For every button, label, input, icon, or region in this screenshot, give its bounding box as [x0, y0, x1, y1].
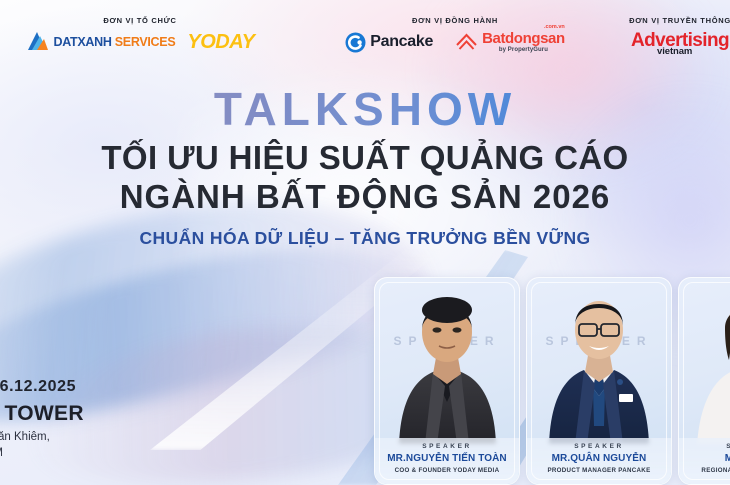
datxanh-word: DATXANH	[54, 35, 115, 49]
speaker-card[interactable]: SPEAKER	[526, 277, 672, 485]
batdongsan-house-icon	[455, 32, 478, 52]
talkshow-poster: ĐƠN VỊ TỔ CHỨC DATXANH SERVICES YODAY ĐƠ	[0, 0, 730, 485]
pancake-logo[interactable]: Pancake	[345, 32, 433, 53]
speaker-role: SPEAKER	[679, 443, 730, 450]
batdongsan-subtitle: by PropertyGuru	[482, 47, 565, 53]
speaker-name: MR.NGUYỄN TIẾN TOÀN	[375, 453, 519, 464]
speaker-card[interactable]: SPE SPEAKER MS.ĐỖ THỊ REGIONAL B2B BATDO…	[678, 277, 730, 485]
page-title: TỐI ƯU HIỆU SUẤT QUẢNG CÁO NGÀNH BẤT ĐỘN…	[0, 139, 730, 216]
headline-line-2: NGÀNH BẤT ĐỘNG SẢN 2026	[0, 178, 730, 217]
event-date: 26.12.2025	[0, 378, 76, 395]
batdongsan-name: Batdongsan	[482, 31, 565, 46]
speaker-name: MR.QUÂN NGUYỄN	[527, 453, 671, 464]
event-info: 00|26.12.2025 ANH TOWER W Ung Văn Khiêm,…	[0, 378, 202, 462]
speaker-caption: SPEAKER MS.ĐỖ THỊ REGIONAL B2B BATDONGSA…	[679, 438, 730, 484]
speaker-title: PRODUCT MANAGER PANCAKE	[527, 467, 671, 475]
advertising-vietnam-logo[interactable]: Advertising vietnam	[631, 31, 729, 60]
partner-group-organizer: ĐƠN VỊ TỔ CHỨC DATXANH SERVICES YODAY	[30, 16, 250, 52]
speaker-card[interactable]: SPEAKER	[374, 277, 520, 485]
speaker-caption: SPEAKER MR.QUÂN NGUYỄN PRODUCT MANAGER P…	[527, 438, 671, 484]
batdongsan-wordmark: .com.vn Batdongsan by PropertyGuru	[482, 31, 565, 53]
speaker-photo	[527, 277, 671, 444]
pancake-mark-icon	[345, 32, 366, 53]
speaker-title: REGIONAL B2B BATDONGSAN	[679, 467, 730, 475]
datxanh-services-logo[interactable]: DATXANH SERVICES	[26, 31, 176, 52]
datxanh-mark-icon	[26, 31, 50, 52]
headline-line-1: TỐI ƯU HIỆU SUẤT QUẢNG CÁO	[0, 139, 730, 178]
media-label: ĐƠN VỊ TRUYỀN THÔNG	[600, 16, 730, 25]
speaker-role: SPEAKER	[375, 443, 519, 450]
services-word: SERVICES	[115, 35, 176, 49]
batdongsan-logo[interactable]: .com.vn Batdongsan by PropertyGuru	[455, 31, 565, 53]
address-line-2: Tây, HCM	[0, 445, 202, 461]
datxanh-services-wordmark: DATXANH SERVICES	[54, 35, 176, 49]
event-venue: ANH TOWER	[0, 402, 202, 426]
subtitle: CHUẨN HÓA DỮ LIỆU – TĂNG TRƯỞNG BỀN VỮNG	[0, 228, 730, 249]
speaker-caption: SPEAKER MR.NGUYỄN TIẾN TOÀN COO & FOUNDE…	[375, 438, 519, 484]
vietnam-word: vietnam	[657, 47, 730, 57]
partner-group-media: ĐƠN VỊ TRUYỀN THÔNG Advertising vietnam	[600, 16, 730, 60]
partner-group-companion: ĐƠN VỊ ĐỒNG HÀNH Pancake	[310, 16, 600, 53]
speaker-name: MS.ĐỖ THỊ	[679, 453, 730, 464]
speaker-photo	[679, 277, 730, 444]
speaker-photo	[375, 277, 519, 444]
event-datetime: 00|26.12.2025	[0, 378, 202, 396]
pancake-wordmark: Pancake	[370, 33, 433, 51]
event-address: W Ung Văn Khiêm, Tây, HCM	[0, 429, 202, 462]
address-line-1: W Ung Văn Khiêm,	[0, 429, 202, 445]
speaker-role: SPEAKER	[527, 443, 671, 450]
speaker-title: COO & FOUNDER YODAY MEDIA	[375, 467, 519, 475]
yoday-logo[interactable]: YODAY	[187, 32, 254, 52]
organizer-label: ĐƠN VỊ TỔ CHỨC	[30, 16, 250, 25]
talkshow-title: TALKSHOW	[0, 86, 730, 132]
partner-logos-bar: ĐƠN VỊ TỔ CHỨC DATXANH SERVICES YODAY ĐƠ	[0, 0, 730, 78]
speaker-cards: SPEAKER	[374, 277, 730, 485]
batdongsan-domain: .com.vn	[544, 25, 565, 31]
